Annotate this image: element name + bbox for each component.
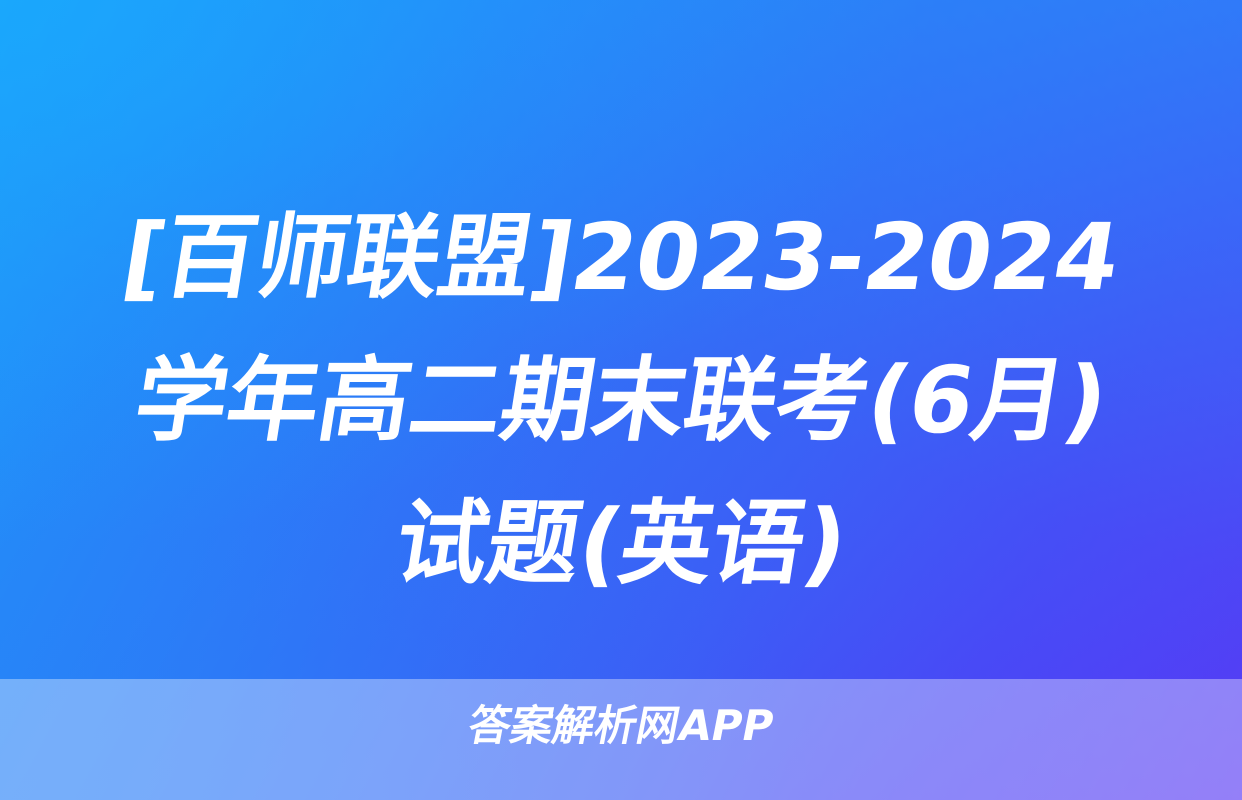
poster-title-line-1: [百师联盟]2023-2024: [29, 186, 1214, 329]
poster-title-line-3: 试题(英语): [29, 472, 1214, 615]
exam-cover-poster: [百师联盟]2023-2024 学年高二期末联考(6月) 试题(英语) 答案解析…: [0, 0, 1242, 800]
poster-title: [百师联盟]2023-2024 学年高二期末联考(6月) 试题(英语): [0, 186, 1242, 615]
footer-watermark-band: 答案解析网APP: [0, 679, 1242, 800]
poster-title-line-2: 学年高二期末联考(6月): [29, 329, 1214, 472]
app-watermark-label: 答案解析网APP: [465, 705, 777, 747]
